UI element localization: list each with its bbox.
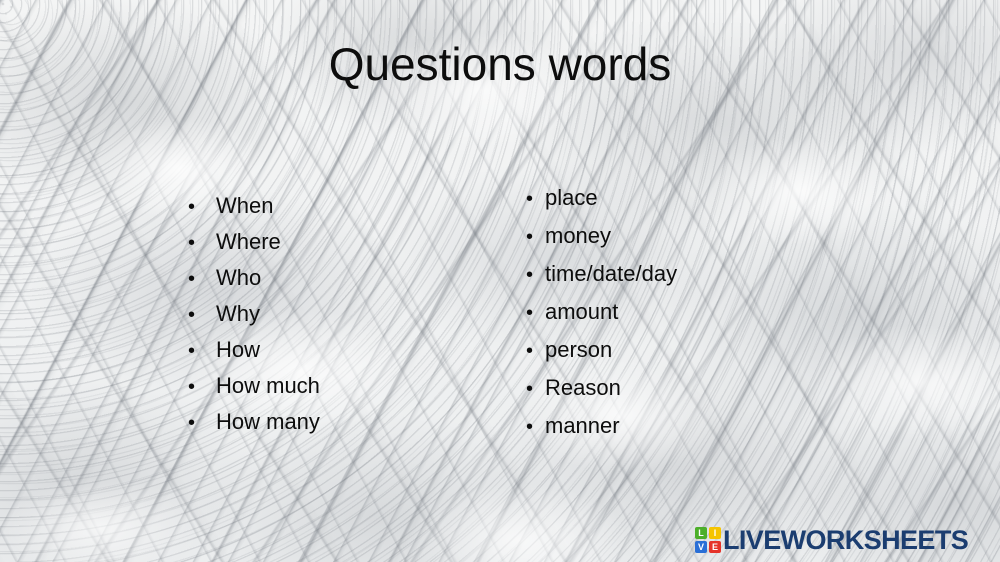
liveworksheets-logo: LIVE LIVEWORKSHEETS [695, 527, 968, 554]
bullet-item: •How [188, 332, 320, 368]
bullet-item: •money [526, 217, 677, 255]
slide-content: Questions words •When•Where•Who•Why•How•… [0, 0, 1000, 562]
logo-tile-v-icon: V [695, 541, 707, 553]
right-bullet-column: •place•money•time/date/day•amount•person… [526, 179, 677, 445]
slide-title: Questions words [0, 36, 1000, 92]
bullet-item: •amount [526, 293, 677, 331]
bullet-dot-icon: • [188, 405, 216, 441]
bullet-item-label: manner [545, 407, 620, 445]
bullet-dot-icon: • [526, 218, 545, 256]
bullet-item: •When [188, 188, 320, 224]
bullet-item-label: Where [216, 224, 281, 260]
bullet-dot-icon: • [188, 297, 216, 333]
slide-canvas: Questions words •When•Where•Who•Why•How•… [0, 0, 1000, 562]
bullet-dot-icon: • [526, 408, 545, 446]
bullet-item: •Who [188, 260, 320, 296]
bullet-dot-icon: • [526, 332, 545, 370]
bullet-dot-icon: • [188, 333, 216, 369]
bullet-item: •Where [188, 224, 320, 260]
left-bullet-column: •When•Where•Who•Why•How•How much•How man… [188, 188, 320, 440]
bullet-item-label: When [216, 188, 273, 224]
bullet-item-label: time/date/day [545, 255, 677, 293]
logo-tile-e-icon: E [709, 541, 721, 553]
bullet-item: •How much [188, 368, 320, 404]
bullet-item-label: How many [216, 404, 320, 440]
bullet-dot-icon: • [526, 180, 545, 218]
bullet-dot-icon: • [188, 261, 216, 297]
bullet-item-label: place [545, 179, 598, 217]
bullet-item-label: person [545, 331, 612, 369]
bullet-item: •How many [188, 404, 320, 440]
bullet-item-label: How [216, 332, 260, 368]
liveworksheets-wordmark: LIVEWORKSHEETS [723, 527, 968, 554]
bullet-dot-icon: • [188, 189, 216, 225]
bullet-item: •time/date/day [526, 255, 677, 293]
bullet-item-label: How much [216, 368, 320, 404]
bullet-item-label: money [545, 217, 611, 255]
bullet-item: •manner [526, 407, 677, 445]
bullet-dot-icon: • [526, 256, 545, 294]
bullet-dot-icon: • [188, 225, 216, 261]
bullet-item-label: amount [545, 293, 618, 331]
bullet-item-label: Who [216, 260, 261, 296]
bullet-dot-icon: • [526, 294, 545, 332]
logo-tile-l-icon: L [695, 527, 707, 539]
bullet-item: •Reason [526, 369, 677, 407]
bullet-item-label: Reason [545, 369, 621, 407]
bullet-item: •Why [188, 296, 320, 332]
bullet-dot-icon: • [526, 370, 545, 408]
bullet-item: •place [526, 179, 677, 217]
logo-tile-i-icon: I [709, 527, 721, 539]
bullet-item: •person [526, 331, 677, 369]
liveworksheets-logo-icon: LIVE [695, 527, 721, 554]
bullet-dot-icon: • [188, 369, 216, 405]
bullet-item-label: Why [216, 296, 260, 332]
